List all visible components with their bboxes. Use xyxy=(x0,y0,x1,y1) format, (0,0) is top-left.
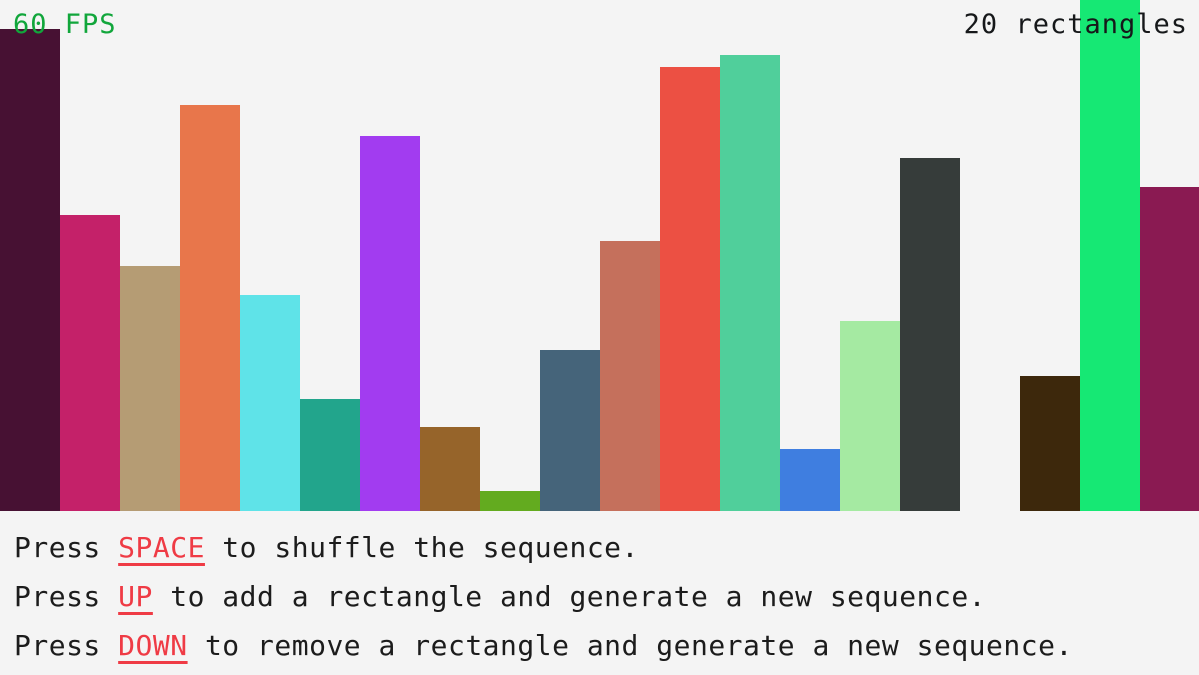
bar-5-cyan xyxy=(240,295,300,511)
bar-18-dark-brown xyxy=(1020,376,1080,511)
bar-16-charcoal xyxy=(900,158,960,511)
bar-12-red xyxy=(660,67,720,511)
bar-1-dark-plum xyxy=(0,29,60,511)
bar-4-orange xyxy=(180,105,240,511)
instruction-prefix: Press xyxy=(14,580,118,613)
instruction-suffix: to add a rectangle and generate a new se… xyxy=(153,580,986,613)
instruction-line-2: Press UP to add a rectangle and generate… xyxy=(0,572,1199,621)
bar-13-mint-green xyxy=(720,55,780,511)
bar-chart xyxy=(0,0,1199,511)
instruction-prefix: Press xyxy=(14,531,118,564)
bar-3-tan xyxy=(120,266,180,511)
bar-20-dark-magenta xyxy=(1140,187,1199,511)
key-space[interactable]: SPACE xyxy=(118,531,205,564)
bar-11-terracotta xyxy=(600,241,660,511)
instructions-panel: Press SPACE to shuffle the sequence.Pres… xyxy=(0,511,1199,675)
bar-7-purple xyxy=(360,136,420,511)
instruction-line-1: Press SPACE to shuffle the sequence. xyxy=(0,523,1199,572)
bar-19-bright-green xyxy=(1080,0,1140,511)
fps-counter: 60 FPS xyxy=(13,11,117,38)
instruction-prefix: Press xyxy=(14,629,118,662)
bar-10-slate-blue xyxy=(540,350,600,511)
bar-14-blue xyxy=(780,449,840,511)
instruction-suffix: to shuffle the sequence. xyxy=(205,531,639,564)
rectangle-count-label: 20 rectangles xyxy=(964,11,1188,38)
key-up[interactable]: UP xyxy=(118,580,153,613)
bar-6-teal xyxy=(300,399,360,511)
bar-8-ochre xyxy=(420,427,480,511)
key-down[interactable]: DOWN xyxy=(118,629,187,662)
instruction-suffix: to remove a rectangle and generate a new… xyxy=(188,629,1073,662)
bar-9-olive-green xyxy=(480,491,540,511)
instruction-line-3: Press DOWN to remove a rectangle and gen… xyxy=(0,621,1199,670)
bar-2-magenta xyxy=(60,215,120,511)
game-canvas: 60 FPS 20 rectangles Press SPACE to shuf… xyxy=(0,0,1199,675)
bar-15-light-green xyxy=(840,321,900,511)
